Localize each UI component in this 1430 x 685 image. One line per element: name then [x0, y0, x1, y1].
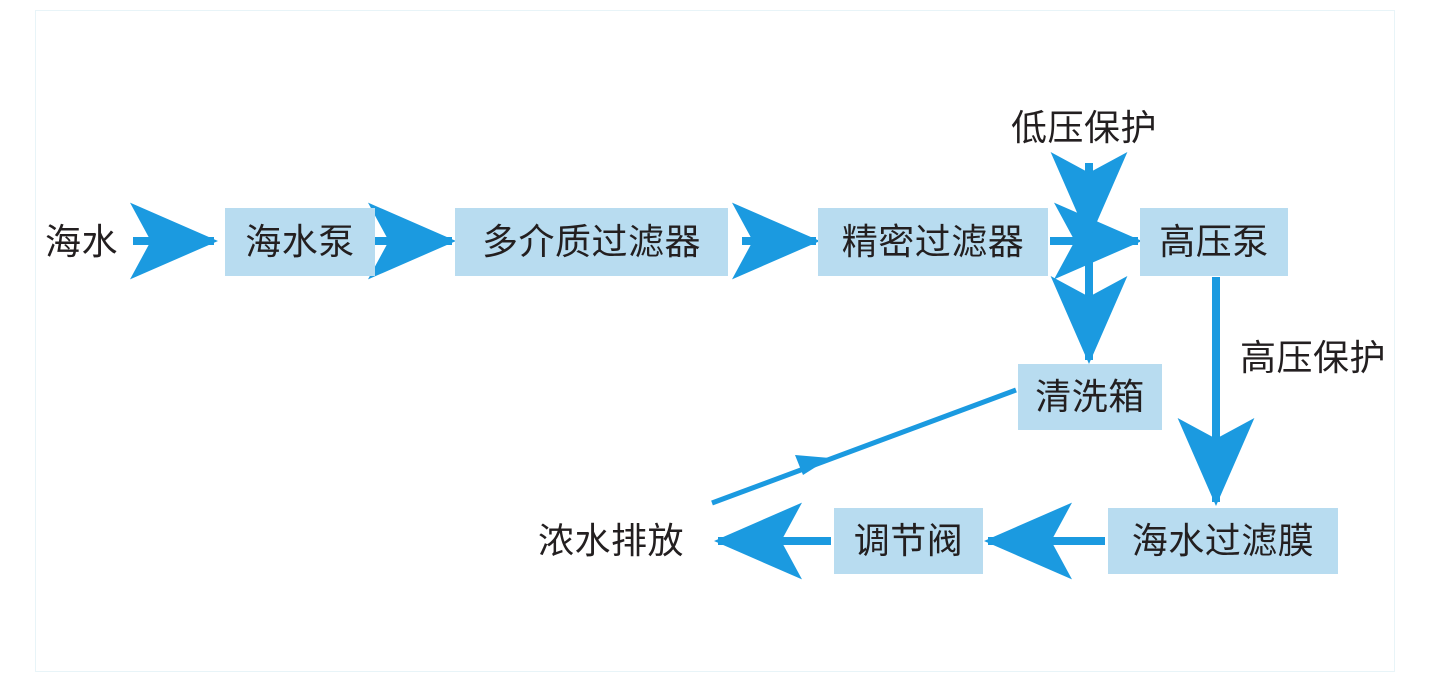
diagram-canvas: 海水 海水泵 多介质过滤器 精密过滤器 高压泵 清洗箱 海水过滤膜 调节阀 浓水… [0, 0, 1430, 685]
node-cleaning-tank-label: 清洗箱 [1035, 379, 1145, 415]
node-precision-filter[interactable]: 精密过滤器 [818, 208, 1048, 276]
edge-cleaningtank-to-brine [712, 390, 1016, 503]
label-high-pressure-protection-text: 高压保护 [1240, 337, 1386, 378]
label-low-pressure-protection: 低压保护 [1011, 110, 1157, 146]
node-multimedia-filter-label: 多介质过滤器 [482, 224, 701, 260]
flow-connectors [0, 0, 1430, 685]
node-seawater-membrane[interactable]: 海水过滤膜 [1108, 508, 1338, 574]
node-brine-discharge-label: 浓水排放 [538, 523, 684, 559]
node-precision-filter-label: 精密过滤器 [842, 224, 1025, 260]
node-seawater-pump[interactable]: 海水泵 [225, 208, 375, 276]
node-seawater-membrane-label: 海水过滤膜 [1132, 523, 1315, 559]
node-high-pressure-pump[interactable]: 高压泵 [1140, 208, 1288, 276]
label-high-pressure-protection: 高压保护 [1240, 340, 1386, 376]
node-brine-discharge: 浓水排放 [538, 518, 684, 564]
node-seawater-label: 海水 [45, 224, 118, 260]
node-regulating-valve[interactable]: 调节阀 [834, 508, 983, 574]
node-regulating-valve-label: 调节阀 [854, 523, 964, 559]
node-seawater: 海水 [45, 219, 118, 265]
node-high-pressure-pump-label: 高压泵 [1159, 224, 1269, 260]
node-cleaning-tank[interactable]: 清洗箱 [1018, 364, 1162, 430]
label-low-pressure-protection-text: 低压保护 [1011, 107, 1157, 148]
node-multimedia-filter[interactable]: 多介质过滤器 [455, 208, 728, 276]
node-seawater-pump-label: 海水泵 [245, 224, 355, 260]
